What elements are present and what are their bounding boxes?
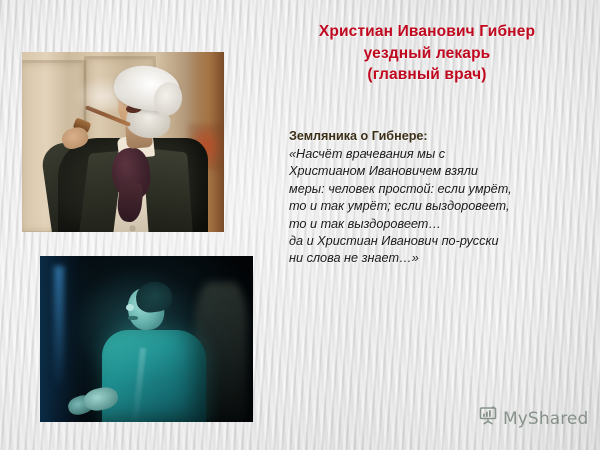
quote-heading: Земляника о Гибнере: [289,128,589,145]
photo-gibner-stage [40,256,253,422]
presentation-chart-icon [478,406,498,431]
quote-line: ни слова не знает…» [289,250,589,267]
photo-gibner-pipe [22,52,224,232]
quote-line: то и так выздоровеет… [289,216,589,233]
watermark-label: MyShared [503,409,588,429]
coat-lapel-right [143,148,194,232]
title-line-1: Христиан Иванович Гибнер [262,21,592,43]
quote-block: Земляника о Гибнере: «Насчёт врачевания … [289,128,589,268]
title-line-2: уездный лекарь [262,43,592,65]
pipe-smoke [74,76,134,110]
shirt-button [130,226,135,231]
quote-line: да и Христиан Иванович по-русски [289,233,589,250]
quote-line: Христианом Ивановичем взяли [289,163,589,180]
slide-title: Христиан Иванович Гибнер уездный лекарь … [262,21,592,86]
quote-line: меры: человек простой: если умрёт, [289,181,589,198]
stage-spotlight-glow [40,256,253,422]
myshared-watermark: MyShared [478,406,588,431]
quote-body: «Насчёт врачевания мы с Христианом Ивано… [289,146,589,268]
quote-line: то и так умрёт; если выздоровеет, [289,198,589,215]
presentation-slide: Христиан Иванович Гибнер уездный лекарь … [0,0,600,450]
quote-line: «Насчёт врачевания мы с [289,146,589,163]
title-line-3: (главный врач) [262,64,592,86]
